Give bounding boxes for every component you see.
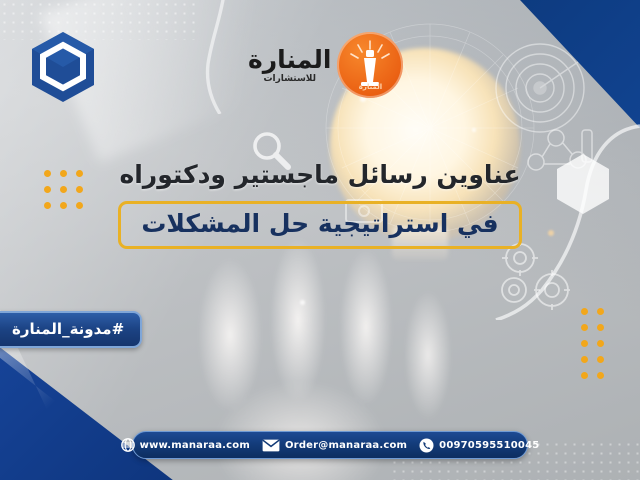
lighthouse-icon: المنارة [337,32,403,98]
brand-subtitle: للاستشارات [263,75,316,84]
poster-canvas: المنارة للاستشارات المنارة عناوين رسائل … [0,0,640,480]
emblem-caption: المنارة [337,83,403,91]
page-title: عناوين رسائل ماجستير ودكتوراه [0,160,640,189]
hexagon-logo-icon[interactable] [28,30,98,104]
phone-icon [419,438,434,453]
sparkle-icon [472,128,476,132]
brand-logo[interactable]: المنارة للاستشارات المنارة [248,22,408,108]
hashtag-badge[interactable]: #مدونة_المنارة [0,311,142,348]
sparkle-icon [300,300,305,305]
contact-website[interactable]: www.manaraa.com [121,438,250,452]
globe-icon [121,438,135,452]
brand-wordmark: المنارة للاستشارات [248,47,331,84]
contact-phone[interactable]: 00970595510045 [419,438,539,453]
contact-bar: www.manaraa.com Order@manaraa.com 009705… [132,431,528,459]
dot-grid-icon [581,308,604,379]
headline-block: عناوين رسائل ماجستير ودكتوراه في استراتي… [0,160,640,249]
contact-email-text: Order@manaraa.com [285,440,407,451]
envelope-icon [262,439,280,452]
contact-phone-text: 00970595510045 [439,440,539,451]
contact-email[interactable]: Order@manaraa.com [262,439,407,452]
brand-name: المنارة [248,47,331,72]
page-subtitle: في استراتيجية حل المشكلات [141,209,498,238]
subtitle-highlight-box: في استراتيجية حل المشكلات [118,201,521,249]
contact-website-text: www.manaraa.com [140,440,250,451]
